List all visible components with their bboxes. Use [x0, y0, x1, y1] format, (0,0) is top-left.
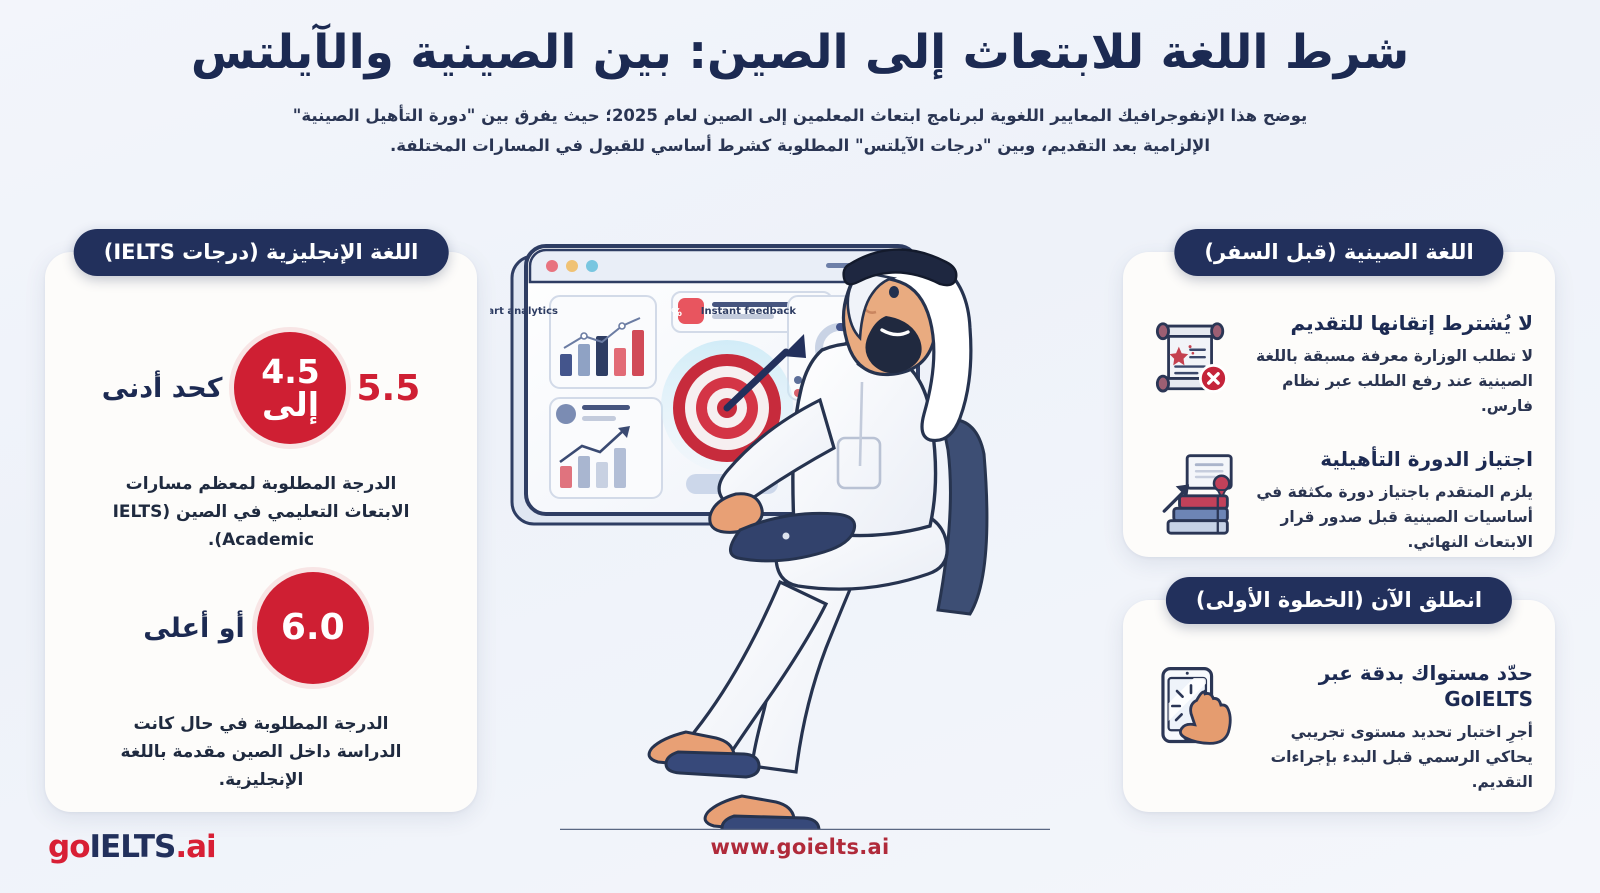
card-start-now-title: انطلق الآن (الخطوة الأولى): [1166, 577, 1512, 624]
header: شرط اللغة للابتعاث إلى الصين: بين الصيني…: [0, 24, 1600, 162]
start-item-1-title-brand: GoIELTS: [1444, 687, 1533, 711]
start-item-1-body: أجرِ اختبار تحديد مستوى تجريبي يحاكي الر…: [1253, 720, 1533, 794]
ielts-score-1-prefix: 5.5: [356, 368, 420, 409]
page-title: شرط اللغة للابتعاث إلى الصين: بين الصيني…: [140, 24, 1460, 83]
sandal-front: [649, 732, 759, 777]
chinese-item-1-body: لا تطلب الوزارة معرفة مسبقة باللغة الصين…: [1253, 344, 1533, 418]
sandal-back: [705, 796, 819, 830]
chair: [938, 419, 987, 614]
tablet-tap-icon[interactable]: [1145, 660, 1237, 752]
start-item-1-title: حدّد مستواك بدقة عبر GoIELTS: [1253, 660, 1533, 712]
screen-label-instant-feedback: Instant feedback: [701, 306, 797, 317]
ielts-score-1-description: الدرجة المطلوبة لمعظم مسارات الابتعاث ال…: [101, 470, 421, 554]
illustration-man-using-touchscreen-dashboard: Smart analytics %: [490, 230, 1110, 830]
start-item-1: حدّد مستواك بدقة عبر GoIELTS أجرِ اختبار…: [1123, 660, 1555, 794]
ielts-score-group-2: 6.0 أو أعلى الدرجة المطلوبة في حال كانت …: [45, 572, 477, 794]
screen-label-smart-analytics: Smart analytics: [490, 306, 558, 317]
ielts-score-2-description: الدرجة المطلوبة في حال كانت الدراسة داخل…: [101, 710, 421, 794]
scroll-x-icon: [1145, 310, 1237, 402]
chinese-item-1: لا يُشترط إتقانها للتقديم لا تطلب الوزار…: [1123, 310, 1555, 418]
start-item-1-title-ar: حدّد مستواك بدقة عبر: [1319, 661, 1533, 685]
ielts-score-2-bubble: 6.0: [257, 572, 369, 684]
ielts-score-1-suffix: كحد أدنى: [102, 373, 223, 404]
card-chinese-language-title: اللغة الصينية (قبل السفر): [1174, 229, 1503, 276]
screen-card-growth: [550, 398, 662, 498]
ielts-score-row-2: 6.0 أو أعلى: [45, 572, 477, 684]
card-chinese-language: اللغة الصينية (قبل السفر) لا يُشترط إتقا…: [1123, 252, 1555, 557]
page-subtitle: يوضح هذا الإنفوجرافيك المعايير اللغوية ل…: [285, 101, 1315, 162]
chinese-item-2-title: اجتياز الدورة التأهيلية: [1253, 446, 1533, 472]
ielts-score-group-1: 5.5 4.5 إلى كحد أدنى الدرجة المطلوبة لمع…: [45, 332, 477, 554]
card-english-ielts-title: اللغة الإنجليزية (درجات IELTS): [74, 229, 449, 276]
chinese-item-2: اجتياز الدورة التأهيلية يلزم المتقدم باج…: [1123, 446, 1555, 554]
card-english-ielts: اللغة الإنجليزية (درجات IELTS) 5.5 4.5 إ…: [45, 252, 477, 812]
footer-website-url[interactable]: www.goielts.ai: [0, 835, 1600, 859]
books-certificate-icon: [1145, 446, 1237, 538]
ielts-score-row-1: 5.5 4.5 إلى كحد أدنى: [45, 332, 477, 444]
infographic-page: شرط اللغة للابتعاث إلى الصين: بين الصيني…: [0, 0, 1600, 893]
ielts-score-2-suffix: أو أعلى: [143, 613, 244, 644]
chinese-item-1-title: لا يُشترط إتقانها للتقديم: [1253, 310, 1533, 336]
svg-text:%: %: [671, 306, 682, 319]
chinese-item-2-body: يلزم المتقدم باجتياز دورة مكثفة في أساسي…: [1253, 480, 1533, 554]
ielts-score-1-bubble: 4.5 إلى: [234, 332, 346, 444]
card-start-now: انطلق الآن (الخطوة الأولى) حدّد مستواك ب…: [1123, 600, 1555, 812]
